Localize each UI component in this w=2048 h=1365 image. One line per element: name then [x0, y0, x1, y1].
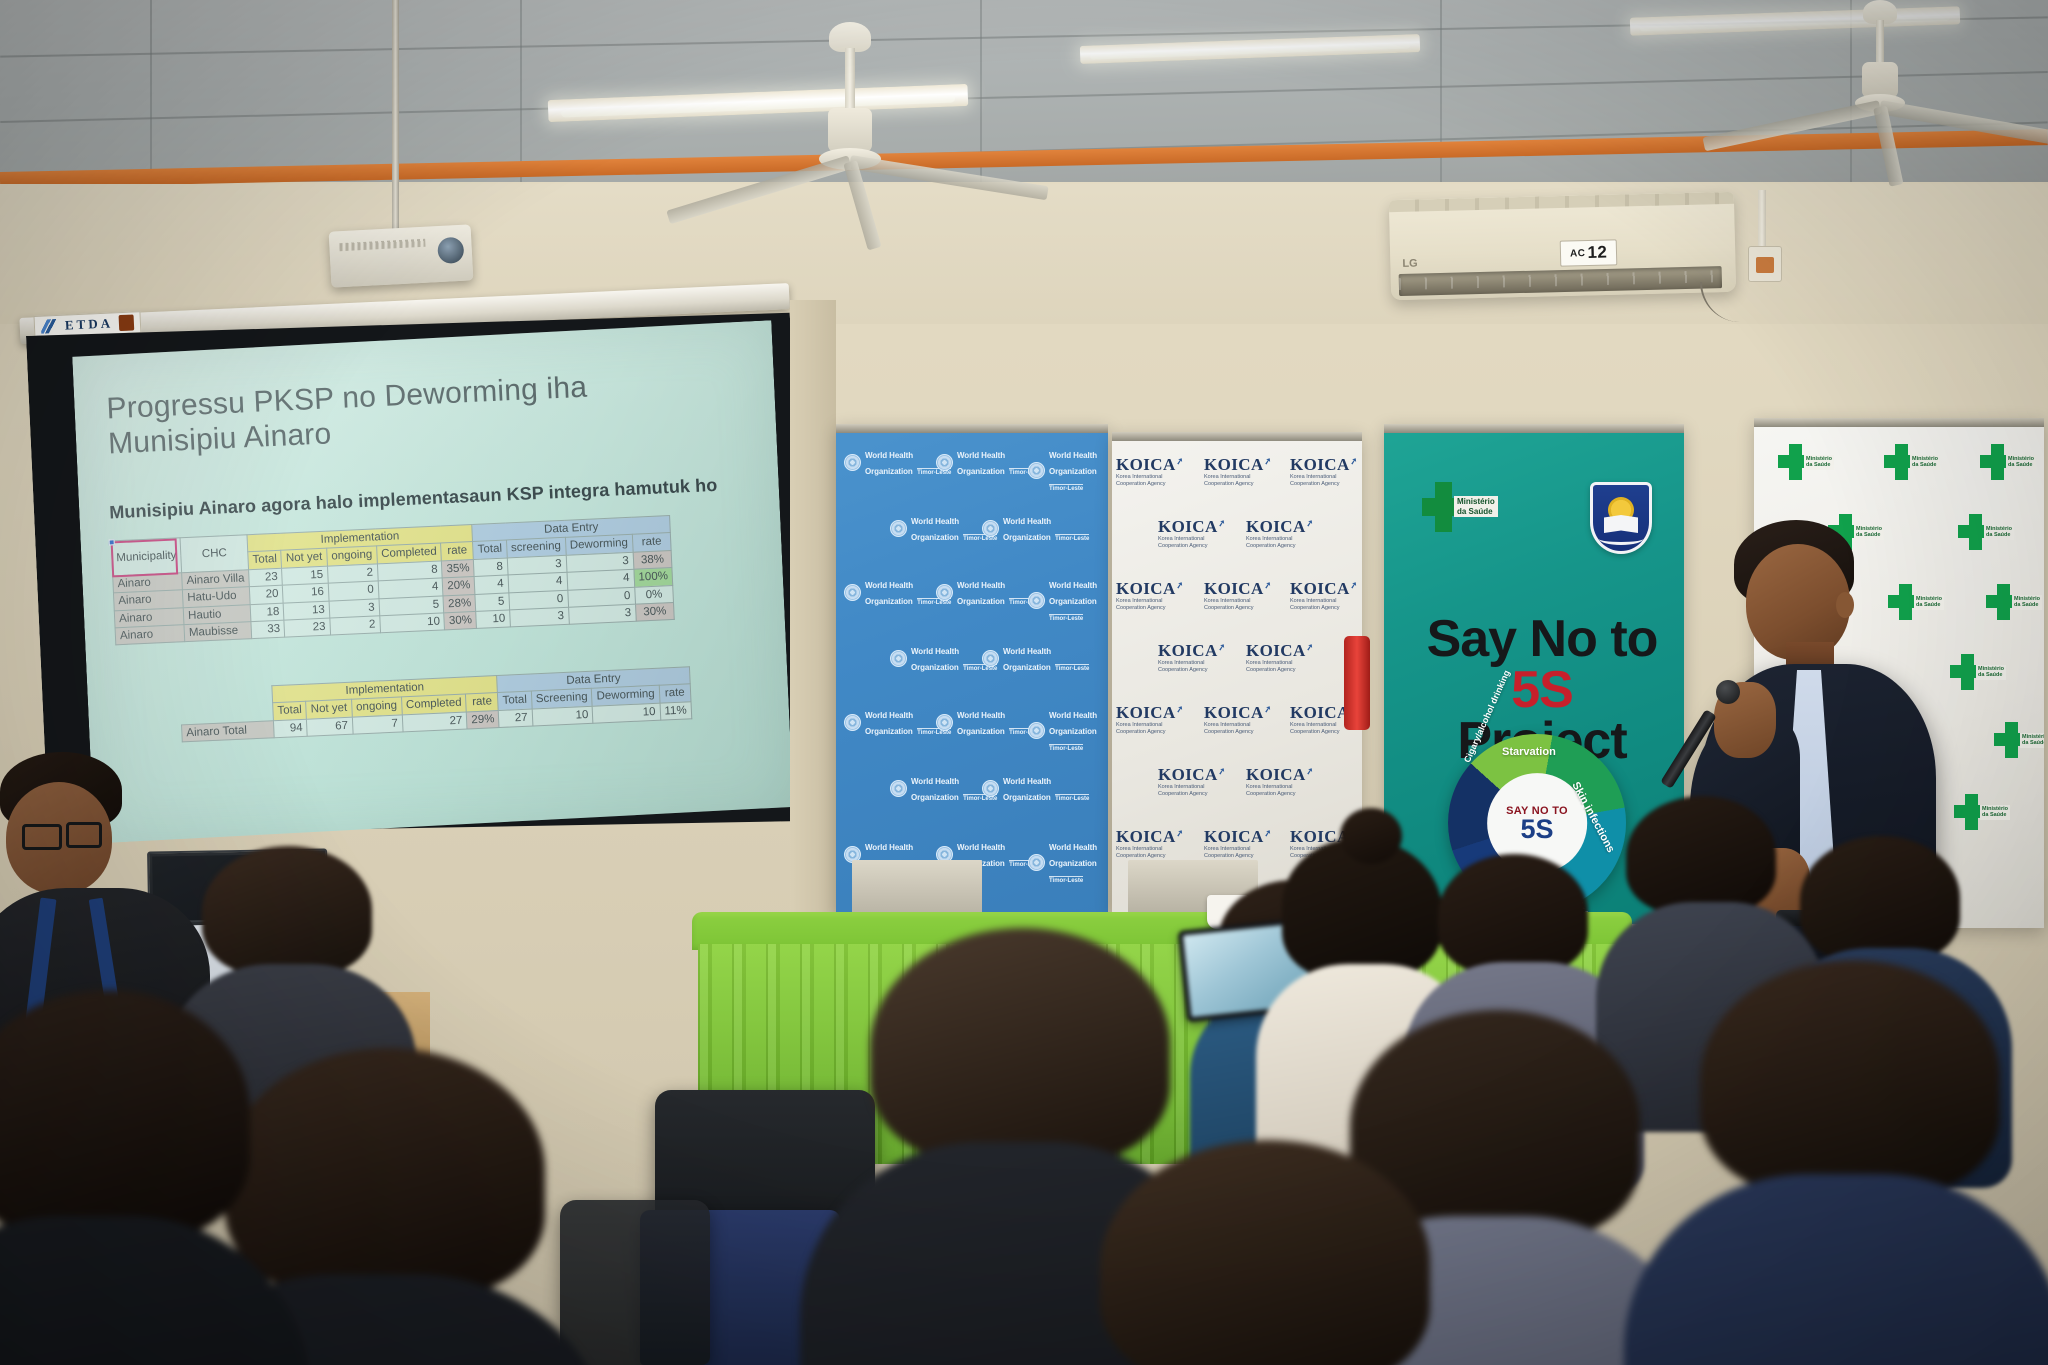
conference-room-photo: LG AC12 ETDA Progressu PKSP no Deworming…: [0, 0, 2048, 1365]
audience-row-front: [0, 0, 2048, 1365]
